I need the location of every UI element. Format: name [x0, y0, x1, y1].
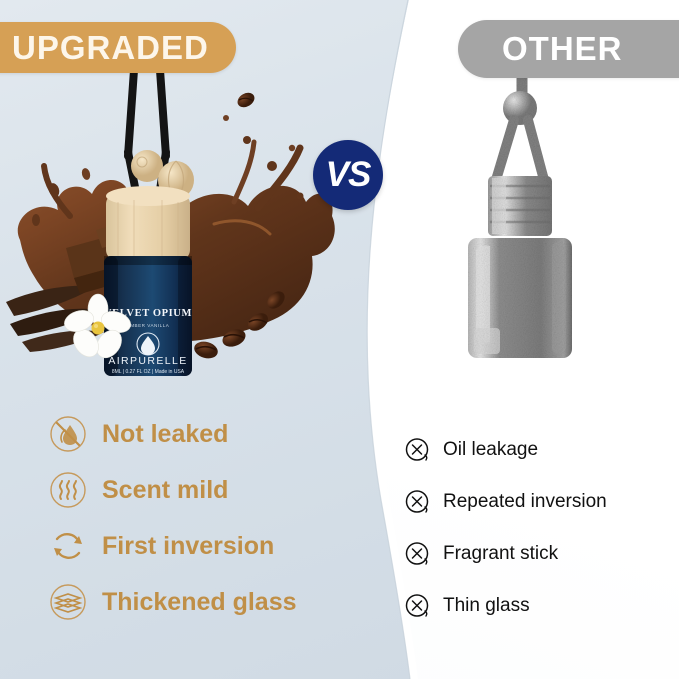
list-item: Scent mild — [48, 462, 348, 518]
drawback-label: Fragrant stick — [443, 543, 558, 565]
feature-label: Not leaked — [102, 420, 228, 449]
other-feature-list: Oil leakage Repeated inversion Fragr — [404, 424, 664, 632]
drawback-label: Oil leakage — [443, 439, 538, 461]
feature-label: Scent mild — [102, 476, 228, 505]
bottle-scent-name: AMBER VANILLA — [127, 323, 170, 328]
drawback-label: Repeated inversion — [443, 491, 607, 513]
list-item: Fragrant stick — [404, 528, 664, 580]
bottle-volume: 8ML | 0.27 FL OZ | Made in USA — [112, 369, 185, 375]
circle-x-icon — [404, 592, 432, 620]
list-item: First inversion — [48, 518, 348, 574]
feature-label: Thickened glass — [102, 588, 297, 617]
other-product-image — [440, 60, 620, 390]
list-item: Thin glass — [404, 580, 664, 632]
list-item: Thickened glass — [48, 574, 348, 630]
layered-glass-icon — [48, 582, 88, 622]
cord-and-beads — [128, 70, 194, 202]
upgraded-feature-list: Not leaked Scent mild — [48, 406, 348, 630]
wooden-cap — [106, 186, 190, 260]
badge-other-label: OTHER — [502, 30, 623, 68]
comparison-infographic: VELVET OPIUM AMBER VANILLA AIRPURELLE 8M… — [0, 0, 679, 679]
circle-x-icon — [404, 540, 432, 568]
no-leak-droplet-icon — [48, 414, 88, 454]
badge-upgraded-label: UPGRADED — [12, 29, 209, 67]
bottle-brand: AIRPURELLE — [108, 355, 187, 367]
badge-upgraded: UPGRADED — [0, 22, 236, 73]
list-item: Not leaked — [48, 406, 348, 462]
feature-label: First inversion — [102, 532, 274, 561]
drawback-label: Thin glass — [443, 595, 530, 617]
circle-x-icon — [404, 488, 432, 516]
scent-waves-icon — [48, 470, 88, 510]
badge-other: OTHER — [458, 20, 679, 78]
vs-label: VS — [326, 155, 371, 195]
rotate-arrows-icon — [48, 526, 88, 566]
circle-x-icon — [404, 436, 432, 464]
upgraded-product-image: VELVET OPIUM AMBER VANILLA AIRPURELLE 8M… — [0, 70, 340, 390]
vs-badge: VS — [313, 140, 383, 210]
list-item: Oil leakage — [404, 424, 664, 476]
list-item: Repeated inversion — [404, 476, 664, 528]
